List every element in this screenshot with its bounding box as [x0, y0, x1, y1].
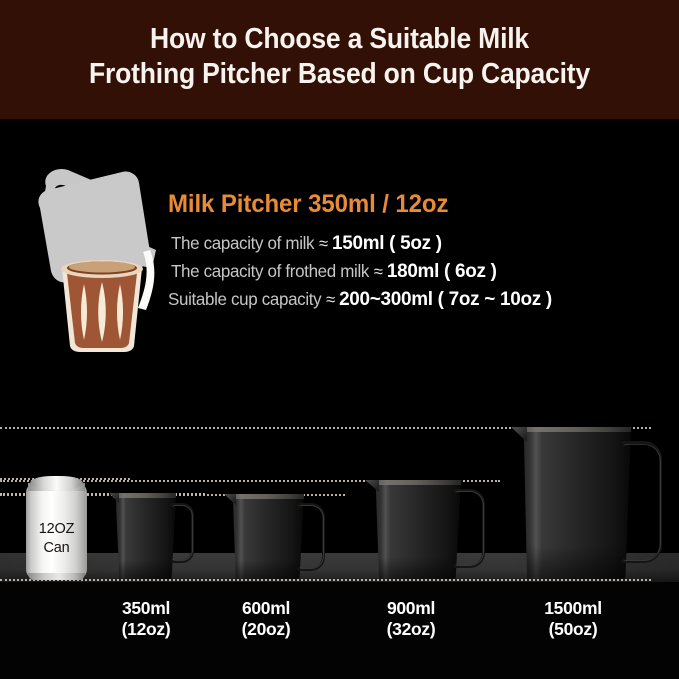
- pitcher-350ml: [113, 493, 176, 579]
- caption-350ml: 350ml (12oz): [96, 598, 196, 640]
- pitcher-bottom-shadow: [371, 557, 461, 579]
- spec-label: The capacity of milk: [171, 233, 314, 254]
- pitcher-1500ml: [518, 427, 631, 579]
- product-infographic: How to Choose a Suitable Milk Frothing P…: [0, 0, 679, 679]
- caption-600ml: 600ml (20oz): [216, 598, 316, 640]
- spec-label: Suitable cup capacity: [168, 289, 321, 310]
- guide-line-baseline: [0, 579, 651, 581]
- pitcher-rim: [229, 494, 304, 499]
- caption-1500ml: 1500ml (50oz): [514, 598, 632, 640]
- pitcher-bottom-shadow: [229, 560, 304, 579]
- pitcher-handle-highlight: [172, 505, 193, 561]
- spec-row-milk-capacity: The capacity of milk ≈ 150ml ( 5oz ): [171, 232, 653, 255]
- spec-value: 150ml ( 5oz ): [332, 232, 442, 255]
- size-comparison-scene: 12OZ Can: [0, 398, 679, 679]
- approx-symbol: ≈: [326, 290, 335, 310]
- pitcher-handle-highlight: [455, 491, 484, 566]
- page-title: How to Choose a Suitable Milk Frothing P…: [24, 22, 655, 92]
- caption-900ml: 900ml (32oz): [356, 598, 466, 640]
- spec-title: Milk Pitcher 350ml / 12oz: [168, 190, 648, 219]
- pitcher-rim: [371, 480, 461, 485]
- can-top-lid: [30, 476, 83, 490]
- spec-panel: Milk Pitcher 350ml / 12oz The capacity o…: [168, 190, 668, 316]
- header-banner: How to Choose a Suitable Milk Frothing P…: [0, 0, 679, 119]
- can-label-text: 12OZ Can: [26, 520, 87, 558]
- pitcher-bottom-shadow: [113, 560, 176, 579]
- pitcher-handle-highlight: [299, 505, 324, 569]
- pouring-illustration: [22, 164, 162, 352]
- reference-can-12oz: 12OZ Can: [26, 476, 87, 580]
- pitcher-rim: [518, 427, 631, 432]
- coffee-cup-icon: [61, 260, 143, 352]
- pitcher-body: [113, 493, 176, 579]
- pitcher-body: [518, 427, 631, 579]
- milk-pitcher-pouring-icon: [22, 164, 162, 352]
- pitcher-bottom-shadow: [518, 546, 631, 579]
- pitcher-body: [229, 494, 304, 579]
- spec-row-suitable-cup-capacity: Suitable cup capacity ≈ 200~300ml ( 7oz …: [168, 288, 653, 311]
- pitcher-900ml: [371, 480, 461, 579]
- spec-value: 180ml ( 6oz ): [387, 260, 497, 283]
- pitcher-rim: [113, 493, 176, 498]
- spec-row-frothed-milk-capacity: The capacity of frothed milk ≈ 180ml ( 6…: [171, 260, 653, 283]
- pitcher-600ml: [229, 494, 304, 579]
- pitcher-body: [371, 480, 461, 579]
- pitcher-handle-highlight: [623, 444, 661, 561]
- approx-symbol: ≈: [374, 262, 383, 282]
- spec-value: 200~300ml ( 7oz ~ 10oz ): [339, 288, 552, 311]
- can-bottom: [28, 573, 85, 580]
- approx-symbol: ≈: [319, 234, 328, 254]
- pitcher-spout: [109, 493, 119, 503]
- spec-label: The capacity of frothed milk: [171, 261, 369, 282]
